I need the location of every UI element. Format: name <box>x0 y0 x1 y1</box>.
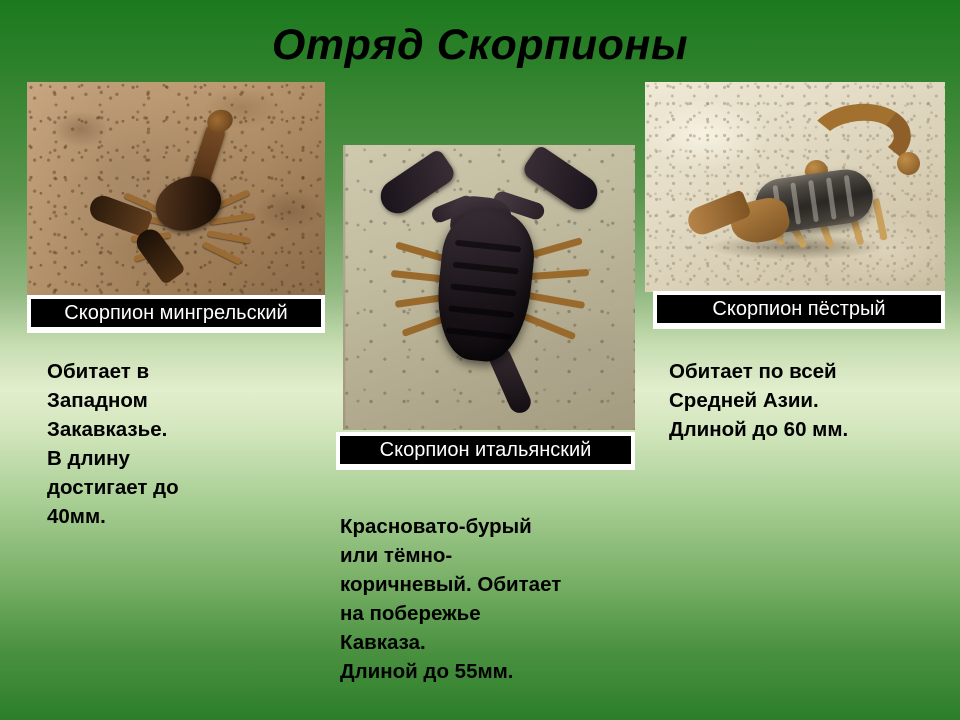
scorpion-stinger <box>897 152 920 175</box>
description-mingrelian-scorpion: Обитает в Западном Закавказье. В длину д… <box>47 357 297 531</box>
scorpion-segment <box>446 327 512 340</box>
photo-scene-sandy-rock <box>27 82 325 296</box>
caption-label: Скорпион мингрельский <box>31 299 321 327</box>
page-title: Отряд Скорпионы <box>0 22 960 69</box>
photo-scene-pale-wood <box>343 145 635 430</box>
caption-label: Скорпион итальянский <box>340 436 631 464</box>
scorpion-segment <box>790 182 801 224</box>
scorpion-segment <box>450 283 516 296</box>
description-italian-scorpion: Красновато-бурый или тёмно- коричневый. … <box>340 512 640 686</box>
photo-scene-white-sand <box>645 82 945 292</box>
scorpion-segment <box>844 175 855 217</box>
caption-mingrelian-scorpion: Скорпион мингрельский <box>27 295 325 333</box>
photo-italian-scorpion <box>343 145 635 430</box>
caption-label: Скорпион пёстрый <box>657 295 941 323</box>
scorpion-segment <box>448 305 514 318</box>
caption-motley-scorpion: Скорпион пёстрый <box>653 291 945 329</box>
scorpion-segment <box>826 177 837 219</box>
scorpion-segment <box>455 240 521 253</box>
presentation-slide: Отряд Скорпионы Скорпион мингрельский Об… <box>0 0 960 720</box>
photo-motley-scorpion <box>645 82 945 292</box>
scorpion-segment <box>453 262 519 275</box>
scorpion-segment <box>808 180 819 222</box>
photo-mingrelian-scorpion <box>27 82 325 296</box>
caption-italian-scorpion: Скорпион итальянский <box>336 432 635 470</box>
description-motley-scorpion: Обитает по всей Средней Азии. Длиной до … <box>669 357 939 444</box>
